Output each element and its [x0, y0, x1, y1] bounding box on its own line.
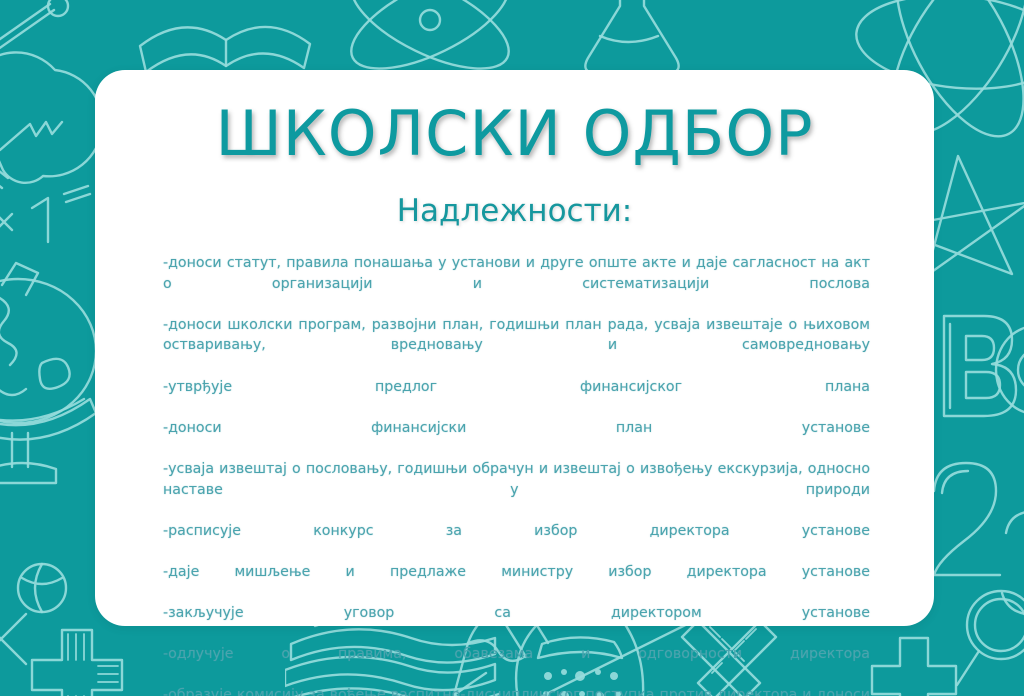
number-2-doodle — [920, 455, 1024, 585]
list-item: -доноси статут, правила понашања у устан… — [163, 253, 870, 315]
magnifier-doodle — [955, 585, 1024, 696]
letter-b-doodle — [930, 300, 1024, 430]
list-item: -образује комисију за вођење васпитно-ди… — [163, 685, 870, 696]
flask-doodle — [560, 0, 700, 80]
globe-doodle — [8, 560, 88, 640]
page-title: ШКОЛСКИ ОДБОР — [95, 98, 934, 170]
list-item: -усваја извештај о пословању, годишњи об… — [163, 459, 870, 521]
list-item: -даје мишљење и предлаже министру избор … — [163, 562, 870, 603]
section-subtitle: Надлежности: — [95, 192, 934, 230]
bullet-list: -доноси статут, правила понашања у устан… — [163, 253, 870, 696]
slide-canvas: ШКОЛСКИ ОДБОР Надлежности: -доноси стату… — [0, 0, 1024, 696]
list-item: -расписује конкурс за избор директора ус… — [163, 521, 870, 562]
list-item: -закључује уговор са директором установе — [163, 603, 870, 644]
list-item: -доноси финансијски план установе — [163, 418, 870, 459]
content-card: ШКОЛСКИ ОДБОР Надлежности: -доноси стату… — [95, 70, 934, 626]
plus-ruler-doodle — [18, 620, 148, 696]
list-item: -одлучује о правима, обавезама и одговор… — [163, 644, 870, 685]
list-item: -утврђује предлог финансијског плана — [163, 377, 870, 418]
letter-a-doodle — [986, 316, 1024, 436]
list-item: -доноси школски програм, развојни план, … — [163, 315, 870, 377]
card-inner: ШКОЛСКИ ОДБОР Надлежности: -доноси стату… — [95, 70, 934, 626]
plus-ruler-doodle — [860, 630, 990, 696]
number-3-doodle — [994, 505, 1024, 635]
